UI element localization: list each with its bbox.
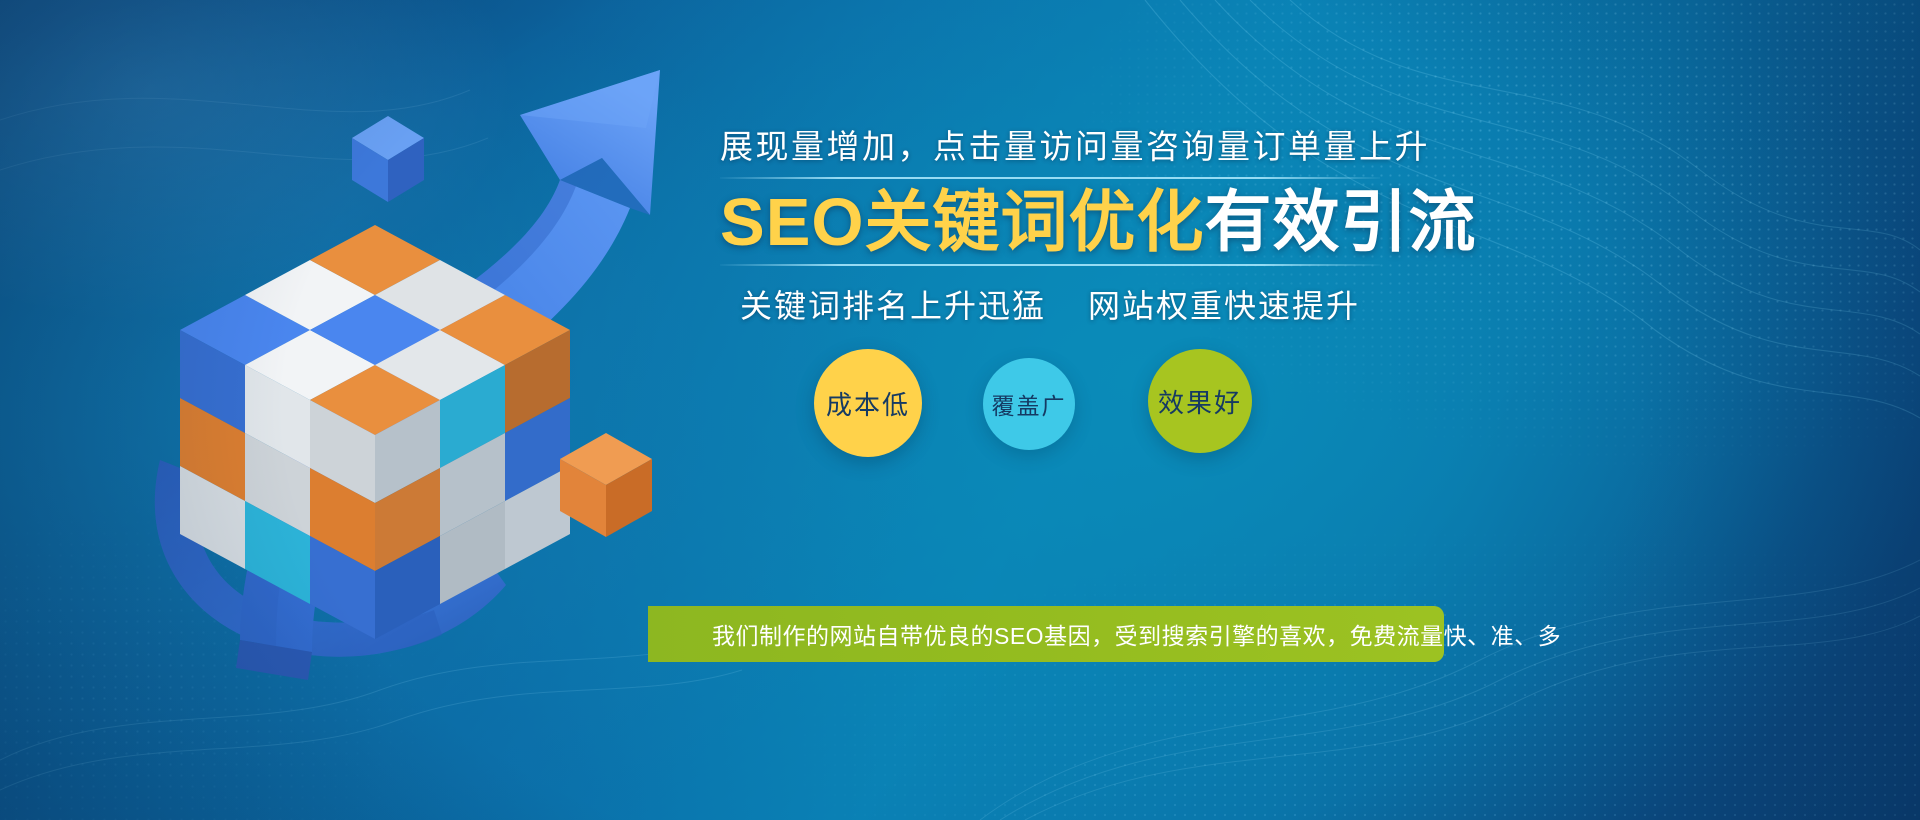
seo-banner: 展现量增加，点击量访问量咨询量订单量上升 SEO关键词优化有效引流 关键词排名上… [0,0,1920,820]
tagline-left: 关键词排名上升迅猛 [740,288,1046,324]
badge-cost-low[interactable]: 成本低 [814,349,922,457]
headline-highlight: SEO关键词优化 [720,185,1205,260]
divider-top [720,177,1380,179]
hero-illustration [90,40,730,700]
badge-coverage-wide[interactable]: 覆盖广 [983,358,1075,450]
footer-banner-text: 我们制作的网站自带优良的SEO基因，受到搜索引擎的喜欢，免费流量快、准、多 [648,617,1561,651]
tagline-right: 网站权重快速提升 [1088,288,1360,324]
banner-headline: SEO关键词优化有效引流 [720,185,1380,260]
banner-subtitle: 展现量增加，点击量访问量咨询量订单量上升 [720,130,1380,177]
arrow-and-cubes-graphic [90,40,730,700]
badge-group: 成本低 覆盖广 效果好 [800,344,1300,464]
floating-orange-cube [560,433,652,537]
badge-label: 效果好 [1158,383,1242,420]
footer-banner-bar: 我们制作的网站自带优良的SEO基因，受到搜索引擎的喜欢，免费流量快、准、多 [648,606,1444,662]
badge-label: 覆盖广 [992,387,1067,421]
banner-tagline: 关键词排名上升迅猛网站权重快速提升 [720,266,1380,327]
banner-copy: 展现量增加，点击量访问量咨询量订单量上升 SEO关键词优化有效引流 关键词排名上… [720,130,1380,327]
floating-blue-cube [352,116,424,202]
badge-label: 成本低 [826,385,910,422]
headline-rest: 有效引流 [1205,185,1477,260]
badge-effect-good[interactable]: 效果好 [1148,349,1252,453]
